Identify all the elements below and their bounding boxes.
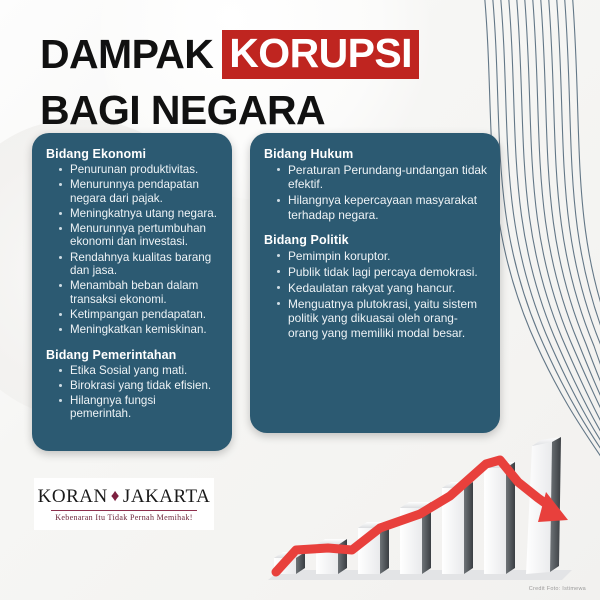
- list-item: Birokrasi yang tidak efisien.: [59, 379, 219, 393]
- logo-word-jakarta: JAKARTA: [123, 486, 210, 508]
- list-item: Meningkatkan kemiskinan.: [59, 323, 219, 337]
- photo-credit: Credit Foto: Istimewa: [529, 586, 586, 592]
- list-item: Hilangnya kepercayaan masyarakat terhada…: [277, 193, 487, 222]
- infographic-poster: DAMPAK KORUPSI BAGI NEGARA Bidang Ekonom…: [0, 0, 600, 600]
- list-item: Menguatnya plutokrasi, yaitu sistem poli…: [277, 297, 487, 340]
- logo-word-koran: KORAN: [38, 486, 108, 508]
- list-item: Menambah beban dalam transaksi ekonomi.: [59, 279, 219, 306]
- title-word-korupsi-highlight: KORUPSI: [222, 30, 419, 79]
- list-item: Etika Sosial yang mati.: [59, 364, 219, 378]
- section-bidang-hukum: Bidang Hukum Peraturan Perundang-undanga…: [264, 147, 487, 222]
- section-title-politik: Bidang Politik: [264, 233, 487, 247]
- section-title-ekonomi: Bidang Ekonomi: [46, 147, 219, 161]
- list-item: Hilangnya fungsi pemerintah.: [59, 394, 219, 421]
- logo-divider: [51, 510, 197, 512]
- section-bidang-politik: Bidang Politik Pemimpin koruptor. Publik…: [264, 233, 487, 340]
- page-title: DAMPAK KORUPSI BAGI NEGARA: [40, 30, 419, 131]
- section-title-pemerintahan: Bidang Pemerintahan: [46, 348, 219, 362]
- list-politik: Pemimpin koruptor. Publik tidak lagi per…: [264, 249, 487, 340]
- list-item: Meningkatnya utang negara.: [59, 207, 219, 221]
- title-line-2: BAGI NEGARA: [40, 90, 419, 131]
- list-item: Pemimpin koruptor.: [277, 249, 487, 263]
- bar-chart-illustration: [250, 430, 600, 600]
- list-hukum: Peraturan Perundang-undangan tidak efekt…: [264, 163, 487, 222]
- section-title-hukum: Bidang Hukum: [264, 147, 487, 161]
- list-item: Ketimpangan pendapatan.: [59, 308, 219, 322]
- publisher-logo: KORAN ♦ JAKARTA Kebenaran Itu Tidak Pern…: [34, 478, 214, 530]
- list-ekonomi: Penurunan produktivitas. Menurunnya pend…: [46, 163, 219, 337]
- title-word-dampak: DAMPAK: [40, 34, 213, 75]
- list-item: Penurunan produktivitas.: [59, 163, 219, 177]
- title-line-1: DAMPAK KORUPSI: [40, 30, 419, 79]
- list-item: Menurunnya pertumbuhan ekonomi dan inves…: [59, 222, 219, 249]
- card-right: Bidang Hukum Peraturan Perundang-undanga…: [250, 133, 500, 433]
- logo-wordmark: KORAN ♦ JAKARTA: [38, 486, 211, 508]
- section-bidang-ekonomi: Bidang Ekonomi Penurunan produktivitas. …: [46, 147, 219, 337]
- card-left: Bidang Ekonomi Penurunan produktivitas. …: [32, 133, 232, 451]
- logo-tagline: Kebenaran Itu Tidak Pernah Memihak!: [55, 513, 193, 522]
- list-item: Rendahnya kualitas barang dan jasa.: [59, 251, 219, 278]
- list-item: Peraturan Perundang-undangan tidak efekt…: [277, 163, 487, 192]
- logo-diamond-icon: ♦: [111, 486, 120, 506]
- list-pemerintahan: Etika Sosial yang mati. Birokrasi yang t…: [46, 364, 219, 421]
- list-item: Kedaulatan rakyat yang hancur.: [277, 281, 487, 295]
- list-item: Publik tidak lagi percaya demokrasi.: [277, 265, 487, 279]
- title-words-bagi-negara: BAGI NEGARA: [40, 90, 325, 131]
- list-item: Menurunnya pendapatan negara dari pajak.: [59, 178, 219, 205]
- section-bidang-pemerintahan: Bidang Pemerintahan Etika Sosial yang ma…: [46, 348, 219, 421]
